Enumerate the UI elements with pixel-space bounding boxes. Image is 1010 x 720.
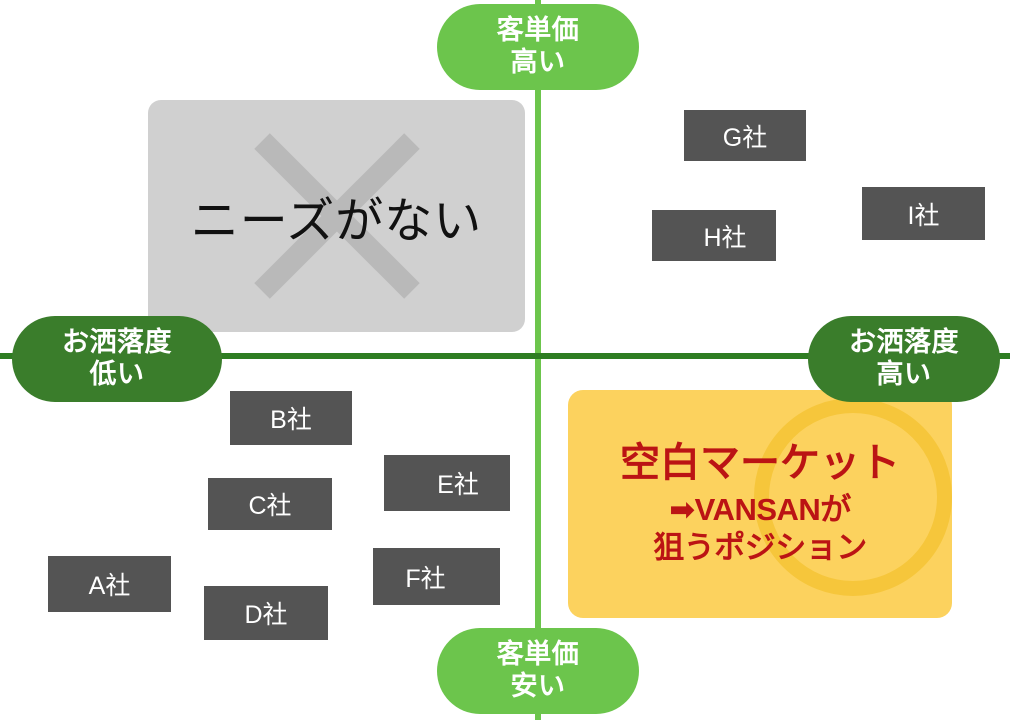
blank-market-block: 空白マーケット ➡VANSANが 狙うポジション: [568, 390, 952, 618]
company-box: I社: [862, 187, 985, 240]
axis-label-style-high-line2: 高い: [877, 359, 932, 391]
company-box-label: G社: [684, 118, 806, 154]
company-box: D社: [204, 586, 328, 640]
positioning-map: ニーズがない 空白マーケット ➡VANSANが 狙うポジション A社B社C社D社…: [0, 0, 1010, 720]
axis-label-price-high: 客単価 高い: [437, 4, 639, 90]
company-box: C社: [208, 478, 332, 530]
company-box-label: H社: [652, 218, 776, 254]
axis-label-style-low-line1: お洒落度: [62, 327, 172, 359]
blank-market-sub-line-1: ➡VANSANが: [653, 491, 867, 529]
axis-label-style-low: お洒落度 低い: [12, 316, 222, 402]
company-box-label: C社: [208, 486, 332, 522]
company-box-label: E社: [384, 465, 510, 501]
no-needs-block: ニーズがない: [148, 100, 525, 332]
company-box-label: B社: [230, 400, 352, 436]
axis-label-price-low-line2: 安い: [511, 671, 566, 703]
company-box: E社: [384, 455, 510, 511]
company-box-label: F社: [373, 559, 500, 595]
blank-market-headline: 空白マーケット: [620, 441, 900, 485]
axis-label-style-low-line2: 低い: [90, 359, 145, 391]
company-box: A社: [48, 556, 171, 612]
company-box: G社: [684, 110, 806, 161]
axis-label-price-low-line1: 客単価: [497, 639, 580, 671]
axis-label-style-high: お洒落度 高い: [808, 316, 1000, 402]
blank-market-sub-line-2: 狙うポジション: [653, 529, 867, 567]
axis-label-price-low: 客単価 安い: [437, 628, 639, 714]
vertical-axis-line: [535, 0, 541, 720]
company-box-label: D社: [204, 595, 328, 631]
axis-label-price-high-line1: 客単価: [497, 15, 580, 47]
company-box: B社: [230, 391, 352, 445]
no-needs-label: ニーズがない: [148, 181, 525, 251]
company-box-label: A社: [48, 566, 171, 602]
axis-label-price-high-line2: 高い: [511, 47, 566, 79]
company-box: H社: [652, 210, 776, 261]
company-box-label: I社: [862, 196, 985, 232]
blank-market-text-group: 空白マーケット ➡VANSANが 狙うポジション: [568, 390, 952, 618]
axis-label-style-high-line1: お洒落度: [849, 327, 959, 359]
company-box: F社: [373, 548, 500, 605]
